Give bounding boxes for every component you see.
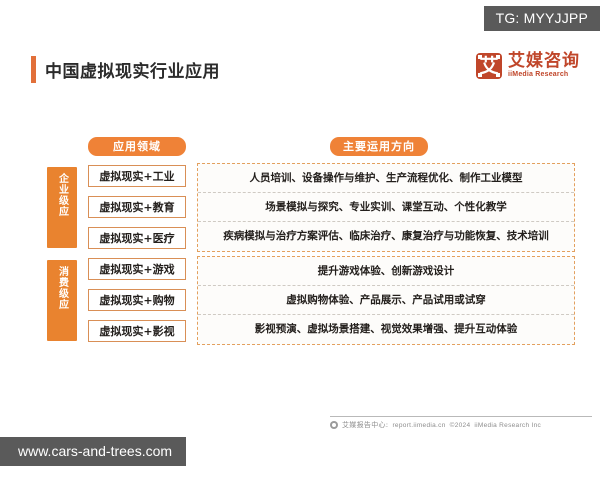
direction-row: 虚拟购物体验、产品展示、产品试用或试穿	[198, 286, 574, 315]
brand-logo: 艾 艾媒咨询 iiMedia Research	[476, 52, 580, 79]
direction-row: 疾病模拟与治疗方案评估、临床治疗、康复治疗与功能恢复、技术培训	[198, 222, 574, 251]
field-label-box: 虚拟现实+购物	[88, 289, 186, 311]
group-tab-label: 消费级应	[56, 266, 69, 310]
footer-divider	[330, 416, 592, 417]
field-label-box: 虚拟现实+工业	[88, 165, 186, 187]
footer-copyright: ©2024	[450, 422, 471, 429]
brand-name-en: iiMedia Research	[508, 70, 580, 79]
footer-source-url: report.iimedia.cn	[392, 422, 445, 429]
iimedia-logo-icon: 艾	[476, 53, 502, 79]
application-matrix: 应用领域 主要运用方向 企业级应 消费级应 虚拟现实+工业 虚拟现实+教育 虚拟…	[0, 130, 600, 355]
direction-row: 人员培训、设备操作与维护、生产流程优化、制作工业模型	[198, 164, 574, 193]
direction-panel-enterprise: 人员培训、设备操作与维护、生产流程优化、制作工业模型 场景模拟与探究、专业实训、…	[197, 163, 575, 252]
logo-glyph: 艾	[476, 53, 502, 79]
field-label-box: 虚拟现实+医疗	[88, 227, 186, 249]
direction-row: 场景模拟与探究、专业实训、课堂互动、个性化教学	[198, 193, 574, 222]
direction-row: 影视预演、虚拟场景搭建、视觉效果增强、提升互动体验	[198, 315, 574, 344]
field-label-box: 虚拟现实+教育	[88, 196, 186, 218]
column-header-direction: 主要运用方向	[330, 137, 428, 156]
field-label-box: 虚拟现实+游戏	[88, 258, 186, 280]
footer-credit: 艾媒报告中心: report.iimedia.cn ©2024 iiMedia …	[330, 420, 596, 430]
page-title: 中国虚拟现实行业应用	[45, 57, 220, 82]
brand-name-cn: 艾媒咨询	[508, 52, 580, 70]
group-tab-label: 企业级应	[56, 173, 69, 217]
group-tab-enterprise: 企业级应	[45, 165, 79, 250]
direction-panel-consumer: 提升游戏体验、创新游戏设计 虚拟购物体验、产品展示、产品试用或试穿 影视预演、虚…	[197, 256, 575, 345]
footer-company: iiMedia Research Inc	[474, 422, 541, 429]
site-url-watermark: www.cars-and-trees.com	[0, 437, 186, 466]
field-label-box: 虚拟现实+影视	[88, 320, 186, 342]
direction-row: 提升游戏体验、创新游戏设计	[198, 257, 574, 286]
column-header-field: 应用领域	[88, 137, 186, 156]
telegram-watermark-tag: TG: MYYJJPP	[484, 6, 600, 31]
globe-icon	[330, 421, 338, 429]
brand-text: 艾媒咨询 iiMedia Research	[508, 52, 580, 79]
title-accent-bar	[31, 56, 36, 83]
footer-source-label: 艾媒报告中心:	[342, 420, 388, 430]
page-header: 中国虚拟现实行业应用 艾 艾媒咨询 iiMedia Research	[0, 52, 600, 94]
page-title-wrap: 中国虚拟现实行业应用	[31, 56, 220, 83]
group-tab-consumer: 消费级应	[45, 258, 79, 343]
